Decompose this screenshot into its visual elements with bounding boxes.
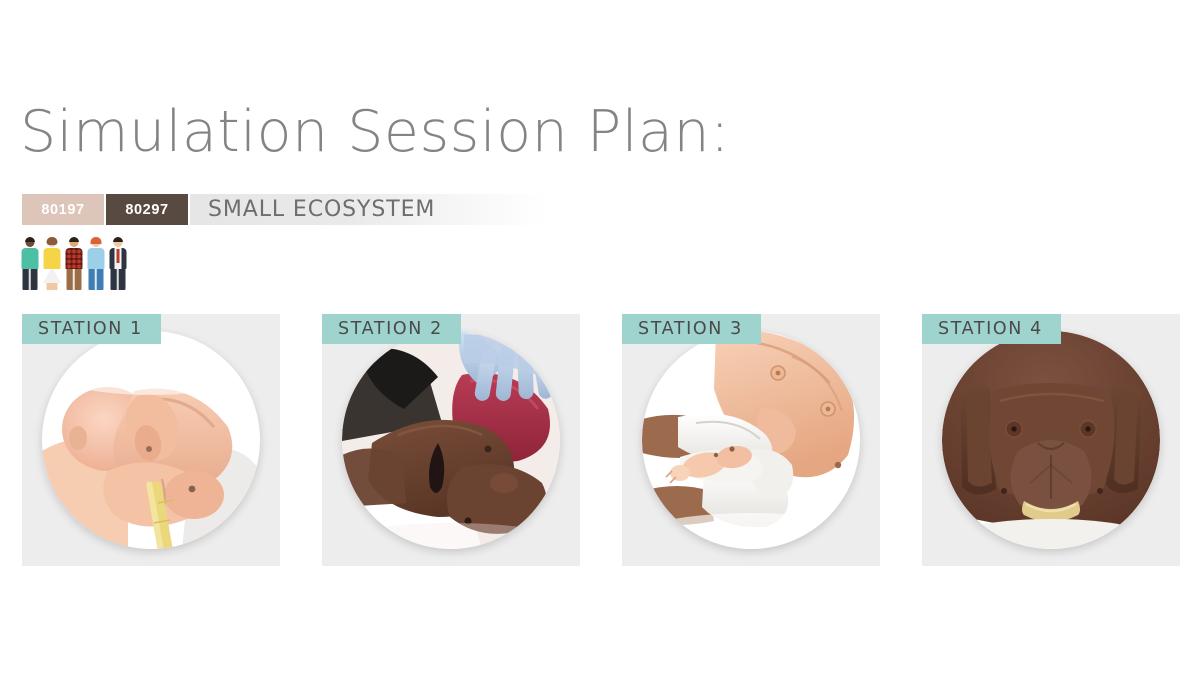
product-code-badge-primary: 80197 bbox=[22, 194, 104, 225]
page-title: Simulation Session Plan: bbox=[20, 101, 730, 164]
people-group-icon bbox=[20, 234, 130, 290]
station-tag-2: STATION 2 bbox=[322, 314, 461, 344]
person-hair-4 bbox=[90, 237, 101, 244]
person-legs-3 bbox=[66, 268, 81, 290]
person-torso-3 bbox=[65, 248, 82, 269]
station-card-4[interactable]: STATION 4 bbox=[922, 314, 1180, 566]
person-necktie-5 bbox=[116, 249, 119, 263]
product-code-row: 80197 80297 SMALL ECOSYSTEM bbox=[22, 194, 595, 225]
person-legs-1 bbox=[22, 268, 37, 290]
station-card-1[interactable]: STATION 1 bbox=[22, 314, 280, 566]
person-legs-5 bbox=[110, 268, 125, 290]
person-torso-1 bbox=[21, 248, 38, 269]
station-photo-4 bbox=[942, 331, 1160, 549]
person-torso-2 bbox=[43, 248, 60, 269]
station-photo-3 bbox=[642, 331, 860, 549]
person-hair-3 bbox=[69, 237, 79, 242]
product-code-badge-secondary: 80297 bbox=[106, 194, 188, 225]
station-photo-2 bbox=[342, 331, 560, 549]
person-legs-4 bbox=[88, 268, 103, 290]
person-figure-4 bbox=[86, 238, 105, 290]
person-figure-1 bbox=[20, 238, 39, 290]
person-hair-1 bbox=[25, 237, 35, 242]
station-tag-4: STATION 4 bbox=[922, 314, 1061, 344]
person-legs-2 bbox=[46, 283, 57, 290]
person-plaid-pattern-3 bbox=[65, 248, 82, 269]
person-figure-2 bbox=[42, 238, 61, 290]
station-photo-1 bbox=[42, 331, 260, 549]
station-card-3[interactable]: STATION 3 bbox=[622, 314, 880, 566]
station-card-row: STATION 1 bbox=[22, 314, 1180, 566]
person-figure-5 bbox=[108, 238, 127, 290]
person-torso-4 bbox=[87, 248, 104, 269]
station-tag-3: STATION 3 bbox=[622, 314, 761, 344]
ecosystem-label: SMALL ECOSYSTEM bbox=[190, 194, 595, 225]
person-figure-3 bbox=[64, 238, 83, 290]
person-skirt-2 bbox=[43, 267, 61, 283]
station-card-2[interactable]: STATION 2 bbox=[322, 314, 580, 566]
person-hair-2 bbox=[46, 237, 57, 245]
station-tag-1: STATION 1 bbox=[22, 314, 161, 344]
person-hair-5 bbox=[113, 237, 123, 242]
